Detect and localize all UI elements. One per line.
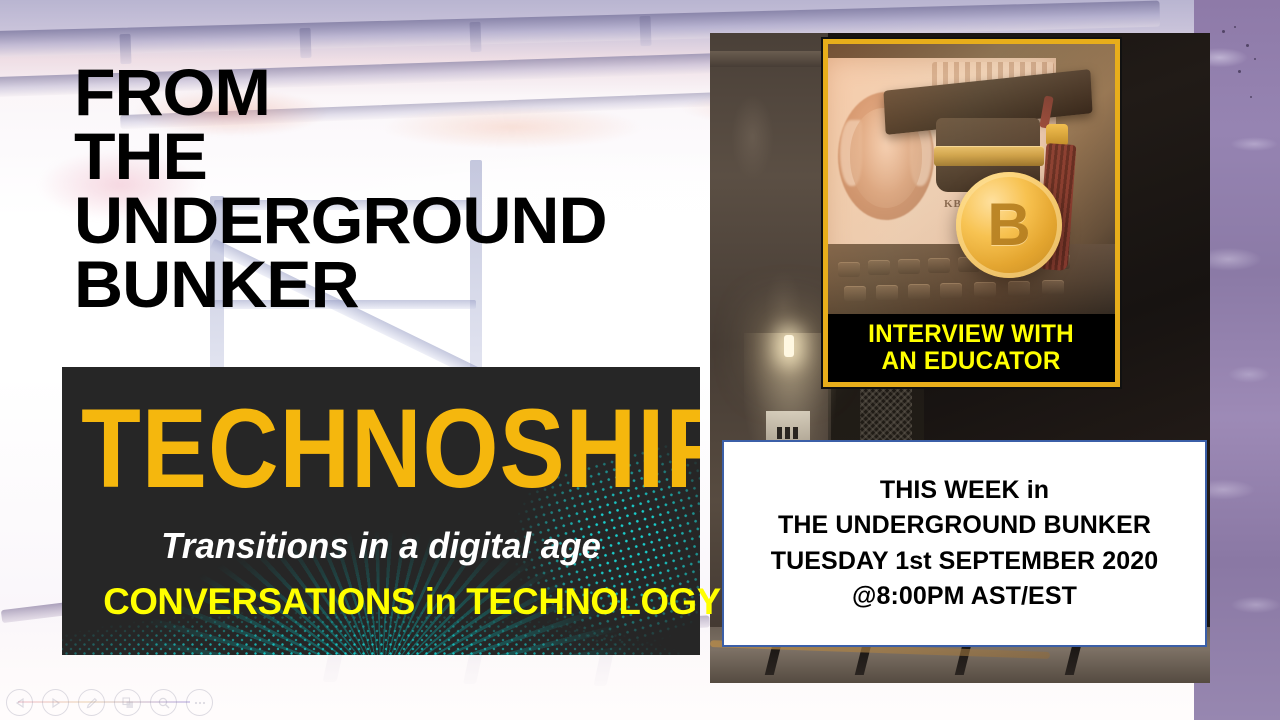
page-title: FROM THE UNDERGROUND BUNKER [74, 60, 733, 316]
warm-color-wash [828, 44, 1115, 324]
brand-block: TECHNOSHIFT Transitions in a digital age… [62, 367, 700, 655]
brand-tagline: Transitions in a digital age [72, 525, 691, 567]
presentation-slide: FROM THE UNDERGROUND BUNKER TECHNOSHIFT … [0, 0, 1280, 720]
card-caption-text: INTERVIEW WITH AN EDUCATOR [869, 321, 1075, 375]
card-caption: INTERVIEW WITH AN EDUCATOR [828, 314, 1115, 382]
triangle-left-icon [14, 697, 26, 709]
magnifier-icon [157, 696, 171, 710]
pipe-hanger [469, 22, 481, 52]
next-slide-button[interactable] [42, 689, 69, 716]
wall-lamp-icon [784, 335, 794, 357]
grid-icon [121, 696, 135, 710]
interview-card: THE UNITED STATES KB 46 ONE HUN [823, 39, 1120, 387]
brand-title: TECHNOSHIFT [81, 393, 681, 505]
event-details-text: THIS WEEK in THE UNDERGROUND BUNKER TUES… [771, 473, 1158, 615]
brand-subtitle: CONVERSATIONS in TECHNOLOGY [85, 581, 738, 623]
pen-annotate-button[interactable] [78, 689, 105, 716]
slideshow-controls[interactable] [6, 689, 213, 716]
pipe-hanger [639, 16, 651, 46]
triangle-right-icon [50, 697, 62, 709]
previous-slide-button[interactable] [6, 689, 33, 716]
pen-icon [85, 696, 99, 710]
event-details-panel: THIS WEEK in THE UNDERGROUND BUNKER TUES… [722, 440, 1207, 647]
zoom-in-button[interactable] [150, 689, 177, 716]
ellipsis-icon [193, 700, 207, 706]
pipe-hanger [299, 28, 311, 58]
card-photo: THE UNITED STATES KB 46 ONE HUN [828, 44, 1115, 324]
more-options-button[interactable] [186, 689, 213, 716]
slide-overview-button[interactable] [114, 689, 141, 716]
